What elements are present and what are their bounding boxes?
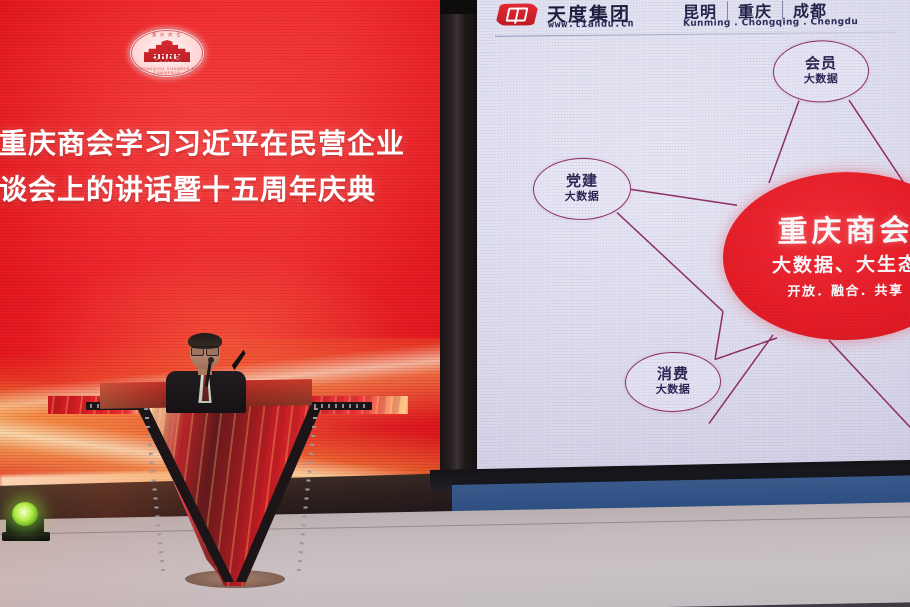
speaker-at-podium [160,335,252,407]
screen-divider-frame [440,0,480,508]
emblem-arc-top-text: 重 庆 商 会 [128,32,206,38]
right-led-screen: 天度集团 www.tiandu.cn 昆明 重庆 成都 Kunming . Ch… [477,0,910,488]
podium-led-body [48,396,408,586]
microphone-capsule [208,357,214,363]
secondary-microphone [228,350,250,371]
divider-post [450,0,466,508]
chamber-emblem: 重 庆 商 会 2003 CHONGQING CHAMBER OF COMMER… [128,27,206,79]
emblem-year: 2003 [128,54,206,65]
conference-stage-photo: 重 庆 商 会 2003 CHONGQING CHAMBER OF COMMER… [0,0,910,607]
stage-light-lens [12,502,38,526]
banner-headline-line-2: 座谈会上的讲话暨十五周年庆典 [0,168,376,208]
rail-studs-right [314,404,368,408]
speaker-glasses [191,346,219,353]
green-stage-light [2,500,54,546]
v-shaped-led-podium [48,396,408,586]
podium-rail-right [310,402,372,410]
led-pixel-grid-overlay [477,0,910,488]
banner-headline-line-1: 省重庆商会学习习近平在民营企业 [0,122,405,162]
emblem-arc-bottom-text: CHONGQING CHAMBER OF COMMERCE [128,67,206,75]
